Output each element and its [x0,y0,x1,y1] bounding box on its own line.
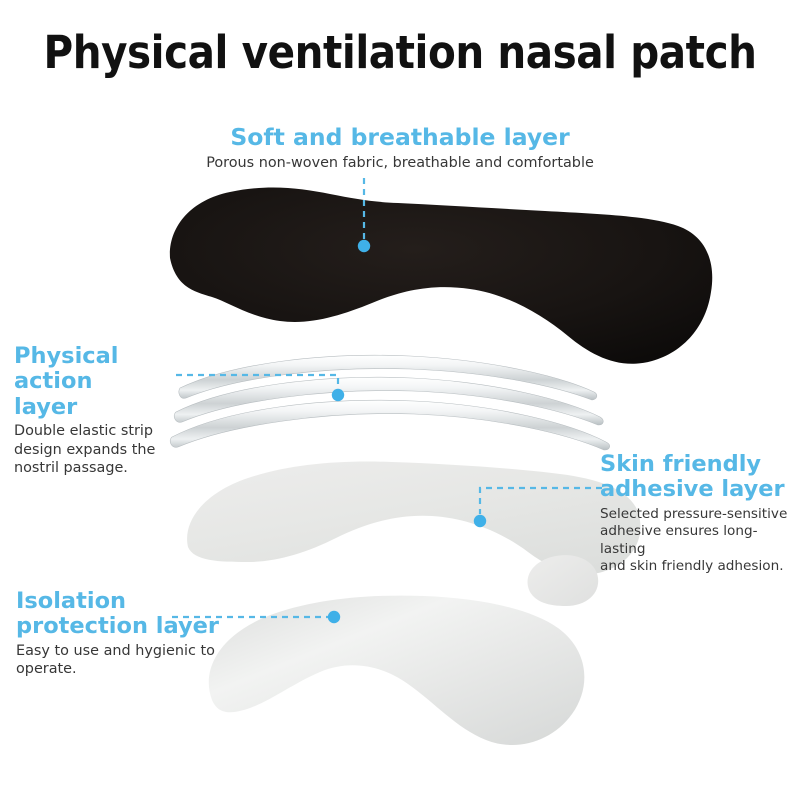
callout-physical-action: Physical action layer Double elastic str… [14,344,204,478]
callout-heading-skin-adhesive: Skin friendly adhesive layer [600,452,800,503]
callout-skin-adhesive: Skin friendly adhesive layer Selected pr… [600,452,800,575]
callout-heading-soft-breathable: Soft and breathable layer [150,124,650,151]
callout-dot-skin-adhesive [474,515,486,527]
callout-dot-physical-action [332,389,344,401]
elastic-strips-layer [170,355,609,450]
callout-dot-soft-breathable [358,240,370,252]
callout-description-isolation-protection: Easy to use and hygienic to operate. [16,642,236,679]
callout-description-soft-breathable: Porous non-woven fabric, breathable and … [150,154,650,172]
breathable-fabric-layer [170,188,712,364]
callout-description-physical-action: Double elastic strip design expands the … [14,422,204,477]
product-infographic: Physical ventilation nasal patch [0,0,800,800]
callout-dot-isolation-protection [328,611,340,623]
callout-description-skin-adhesive: Selected pressure-sensitive adhesive ens… [600,506,800,576]
callout-heading-isolation-protection: Isolation protection layer [16,589,236,640]
release-liner-layer [209,555,598,745]
callout-soft-breathable: Soft and breathable layer Porous non-wov… [150,124,650,172]
callout-heading-physical-action: Physical action layer [14,344,204,420]
callout-isolation-protection: Isolation protection layer Easy to use a… [16,589,236,679]
